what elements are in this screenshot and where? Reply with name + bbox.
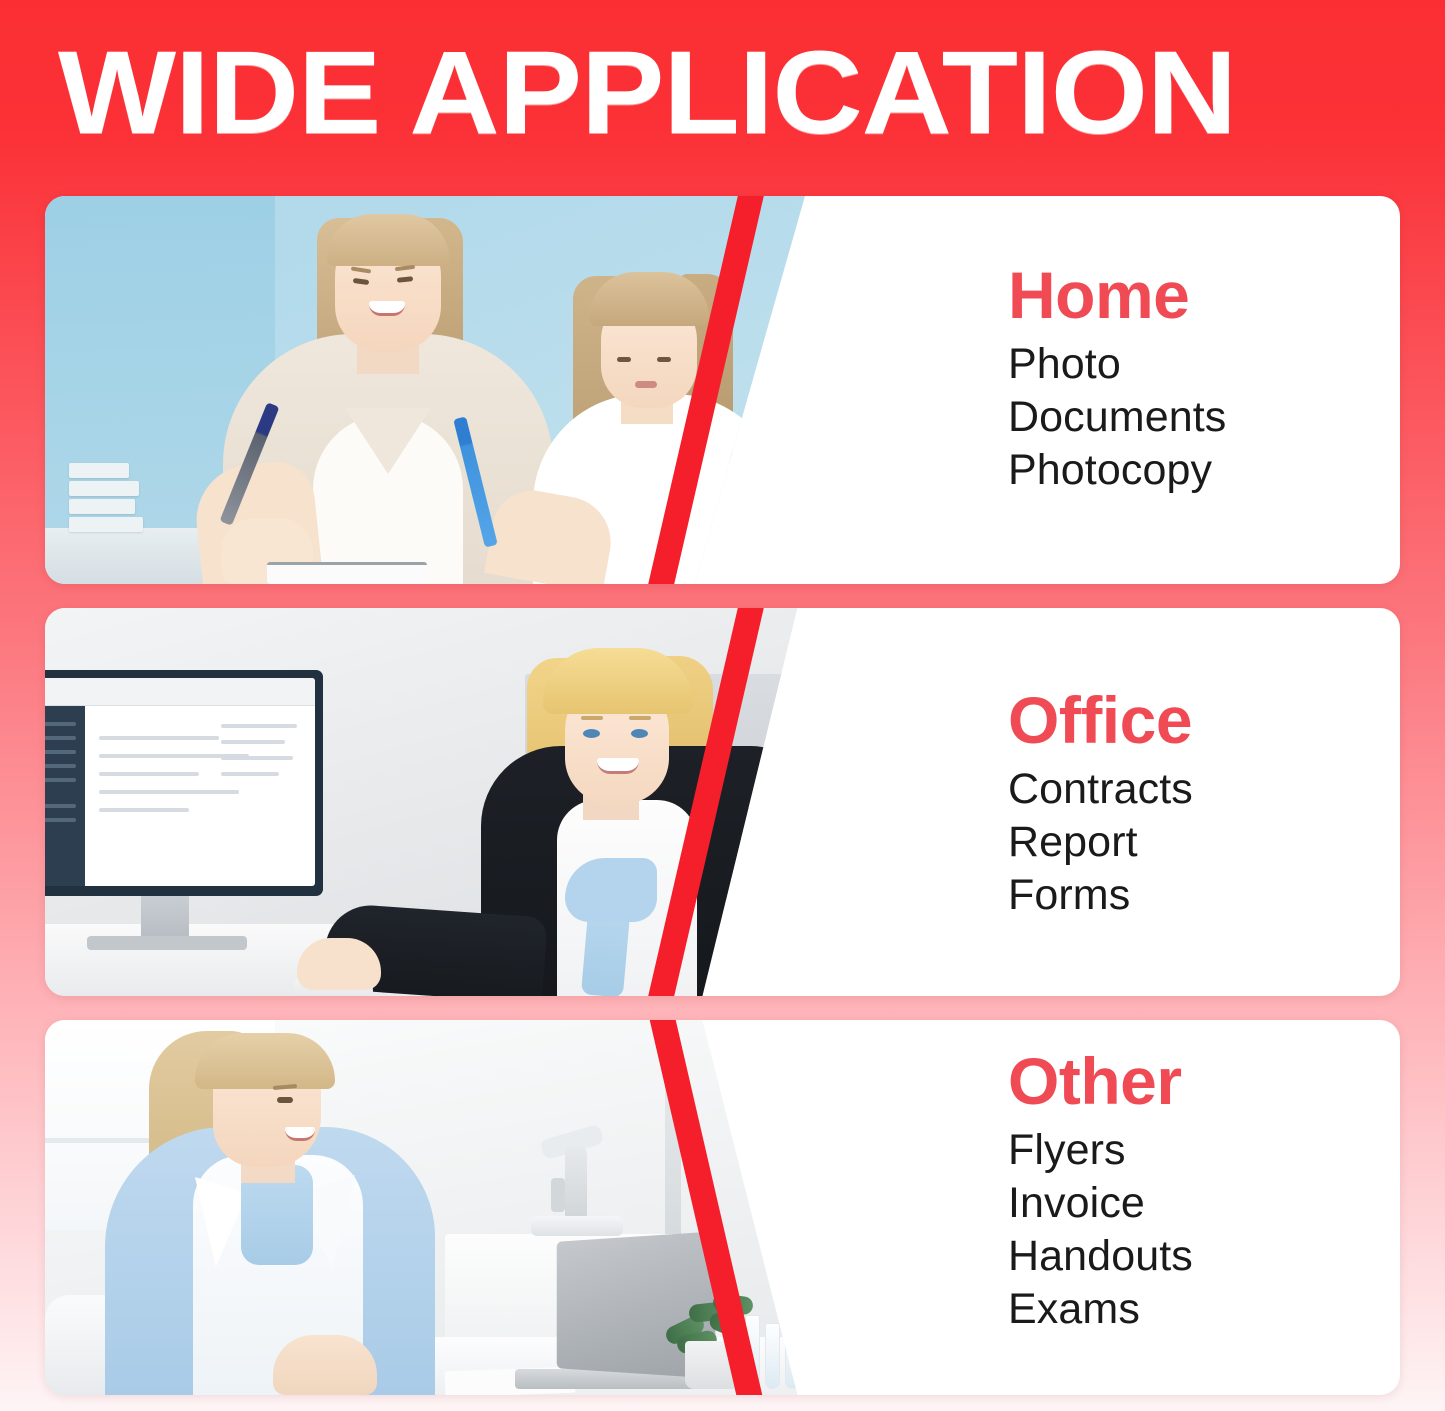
- card-text-other: Other Flyers Invoice Handouts Exams: [875, 1020, 1400, 1395]
- books-decoration: [69, 458, 143, 532]
- list-item: Photo: [1008, 338, 1400, 391]
- list-item: Handouts: [1008, 1230, 1400, 1283]
- list-item: Flyers: [1008, 1124, 1400, 1177]
- card-image-home: [45, 196, 805, 584]
- card-item-list: Flyers Invoice Handouts Exams: [1008, 1124, 1400, 1336]
- card-item-list: Contracts Report Forms: [1008, 763, 1400, 922]
- card-title: Home: [1008, 258, 1400, 332]
- list-item: Invoice: [1008, 1177, 1400, 1230]
- application-card-other: Other Flyers Invoice Handouts Exams: [45, 1020, 1400, 1395]
- list-item: Photocopy: [1008, 444, 1400, 497]
- card-title: Other: [1008, 1044, 1400, 1118]
- list-item: Contracts: [1008, 763, 1400, 816]
- microscope-icon: [531, 1216, 623, 1236]
- card-title: Office: [1008, 683, 1400, 757]
- card-image-office: [45, 608, 805, 996]
- card-item-list: Photo Documents Photocopy: [1008, 338, 1400, 497]
- application-card-office: Office Contracts Report Forms: [45, 608, 1400, 996]
- list-item: Exams: [1008, 1283, 1400, 1336]
- card-text-office: Office Contracts Report Forms: [875, 608, 1400, 996]
- list-item: Forms: [1008, 869, 1400, 922]
- title-banner: WIDE APPLICATION: [0, 0, 1445, 190]
- list-item: Report: [1008, 816, 1400, 869]
- page-title: WIDE APPLICATION: [58, 34, 1236, 152]
- card-text-home: Home Photo Documents Photocopy: [875, 196, 1400, 584]
- application-card-home: Home Photo Documents Photocopy: [45, 196, 1400, 584]
- card-image-other: [45, 1020, 805, 1395]
- list-item: Documents: [1008, 391, 1400, 444]
- wide-application-infographic: WIDE APPLICATION: [0, 0, 1445, 1411]
